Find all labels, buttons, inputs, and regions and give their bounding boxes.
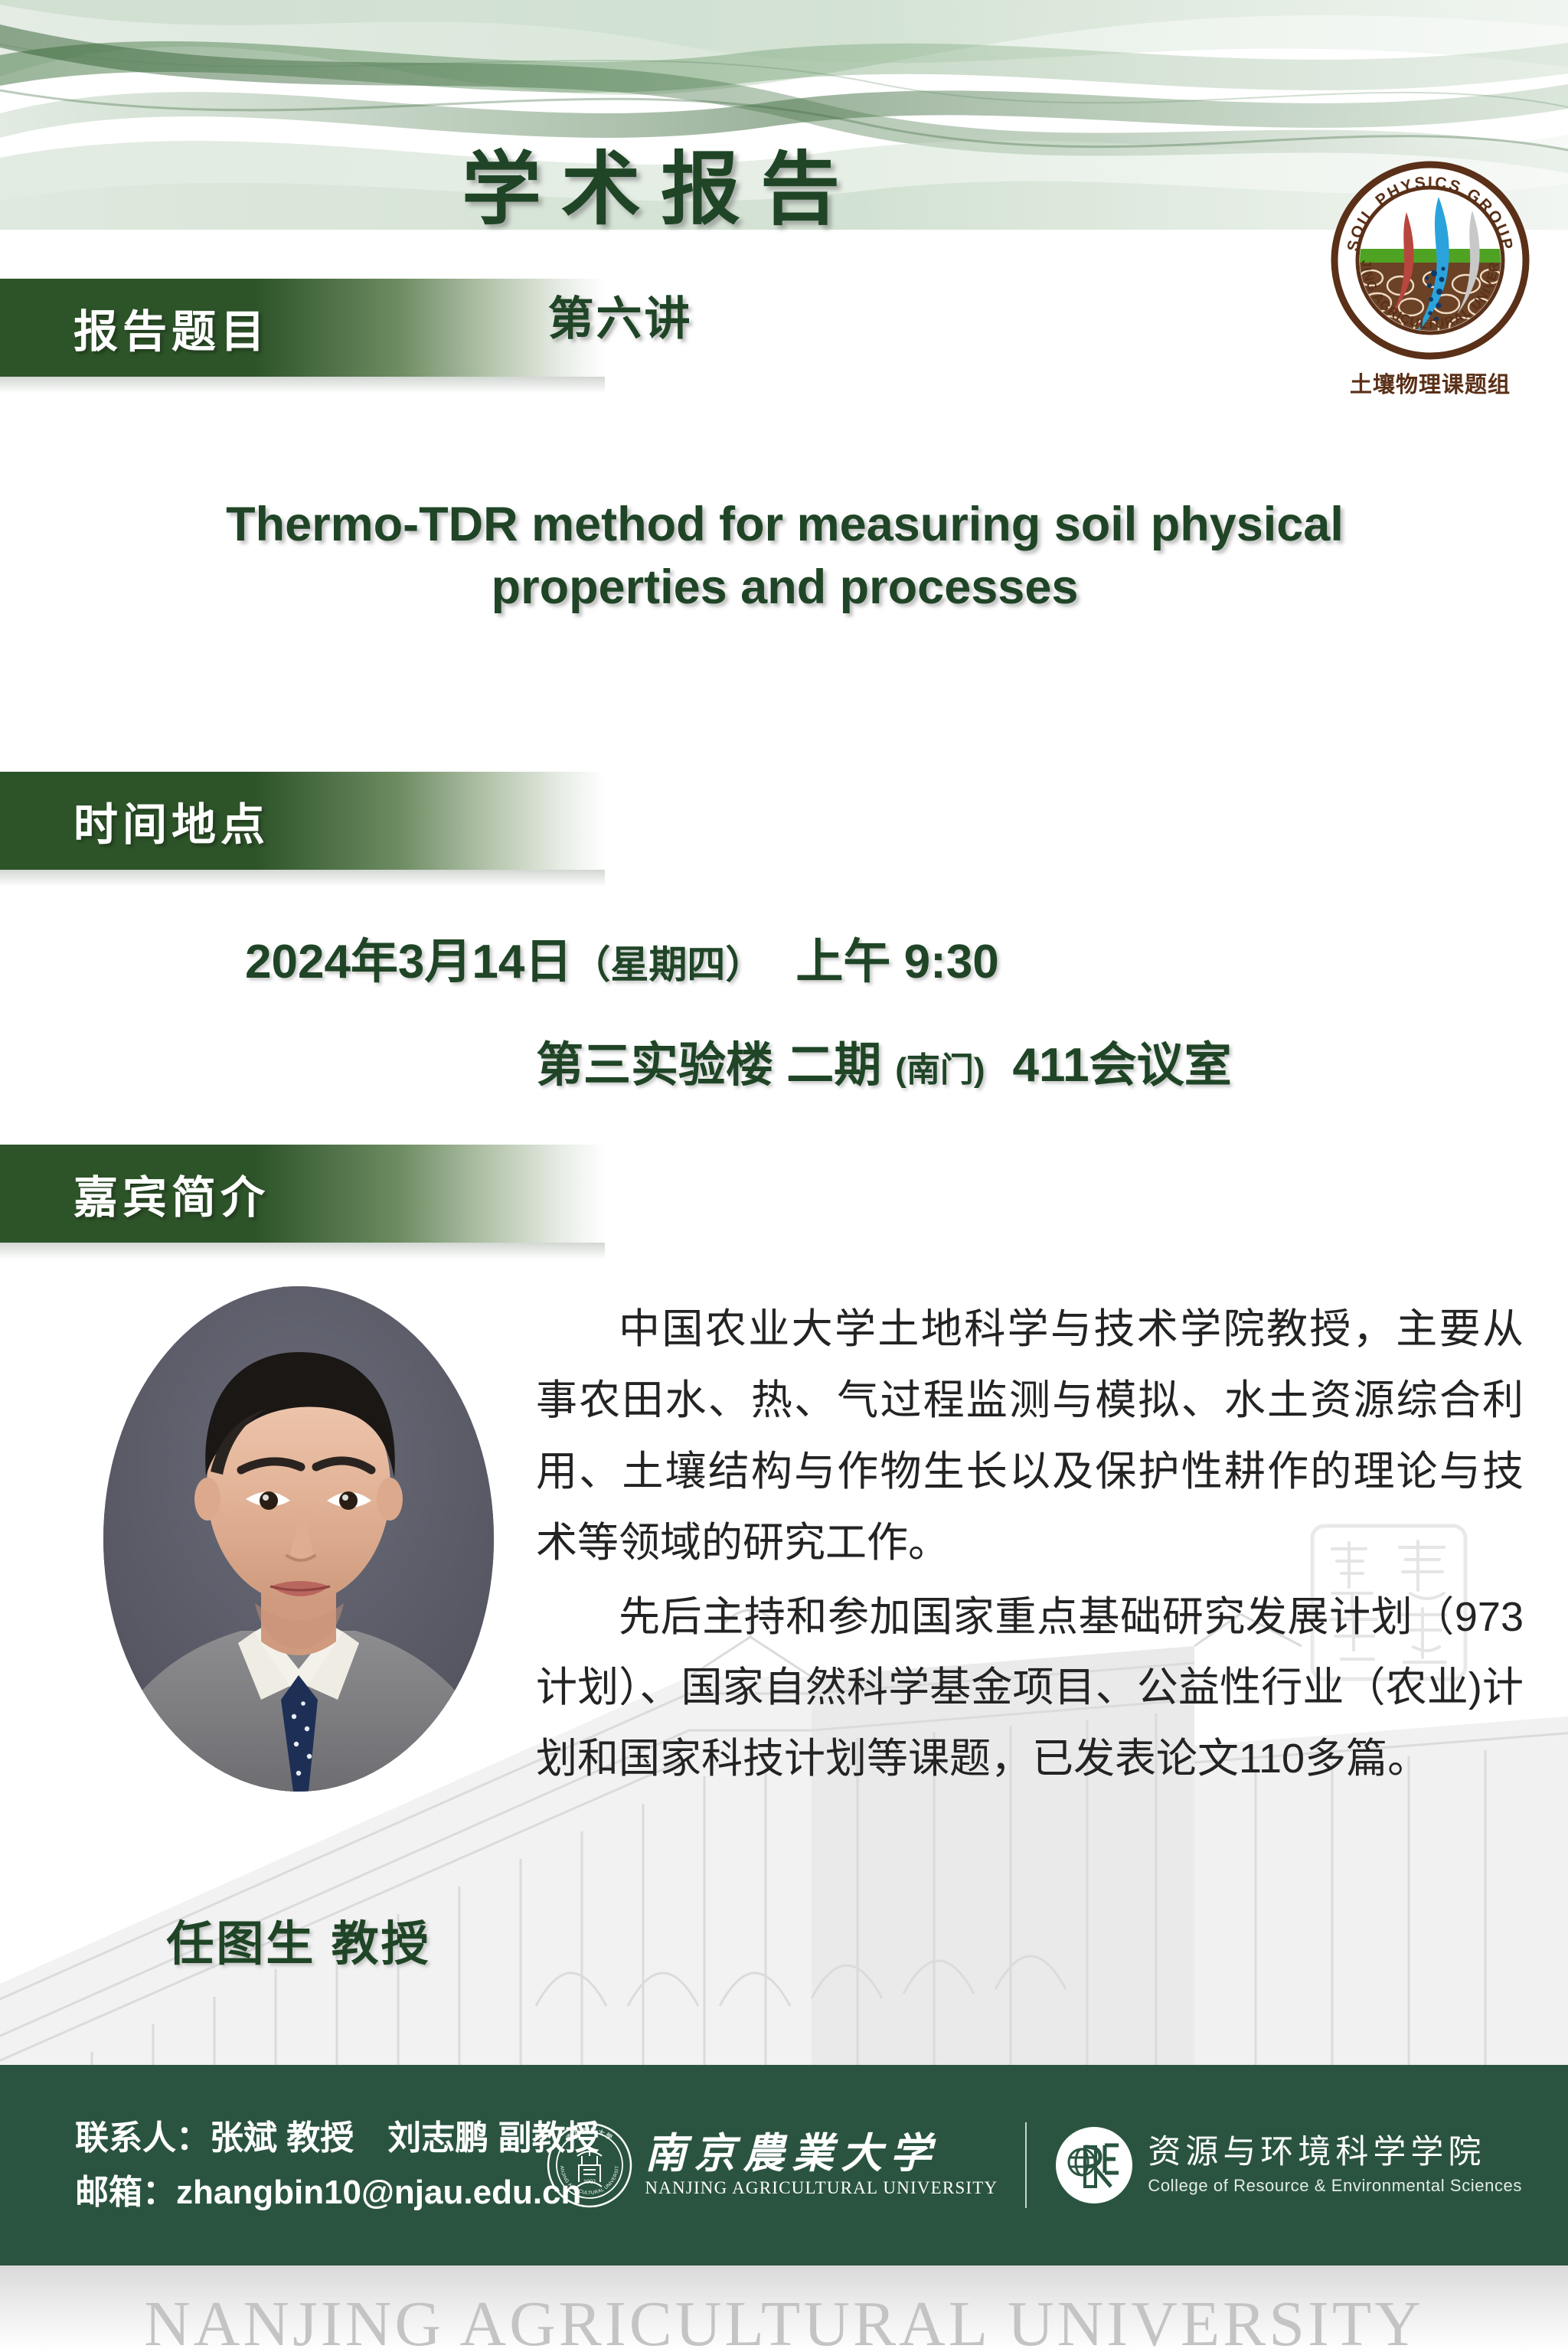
bio-paragraph-1: 中国农业大学土地科学与技术学院教授，主要从事农田水、热、气过程监测与模拟、水土资… (536, 1294, 1524, 1579)
topic-bar-shadow (0, 377, 605, 394)
lecture-number: 第六讲 (0, 282, 1240, 348)
page-title: 学术报告 (0, 145, 1302, 234)
time-bar-shadow (0, 870, 605, 887)
talk-title-line-1: Thermo-TDR method for measuring soil phy… (54, 494, 1516, 557)
njau-seal-icon: 南京農業大學 NANJING AGRICULTURAL UNIVERSITY 1… (547, 2122, 632, 2208)
footer-bar: 联系人：张斌 教授刘志鹏 副教授 邮箱：zhangbin10@njau.edu.… (0, 2065, 1568, 2265)
speaker-name: 任图生 教授 (77, 1905, 521, 1974)
njau-seal-year: 1902 (583, 2178, 596, 2185)
cres-name-cn: 资源与环境科学学院 (1148, 2135, 1522, 2171)
globe-badge-icon (1054, 2125, 1134, 2205)
schedule-date: 2024年3月14日 (245, 936, 572, 988)
contact-prefix-label: 联系人： (75, 2119, 210, 2157)
soil-physics-group-caption: 土壤物理课题组 (1323, 367, 1537, 399)
soil-physics-group-logo: SOIL PHYSICS GROUP NANJING AGRICULTURAL … (1323, 157, 1537, 399)
section-label-time: 时间地点 (73, 789, 269, 853)
contact-email[interactable]: zhangbin10@njau.edu.cn (176, 2174, 581, 2211)
schedule-gate: (南门) (895, 1051, 985, 1089)
njau-name-en: NANJING AGRICULTURAL UNIVERSITY (645, 2178, 998, 2198)
bottom-watermark-text: NANJING AGRICULTURAL UNIVERSITY (0, 2292, 1568, 2352)
section-bar-time: 时间地点 (0, 772, 605, 870)
section-bar-guest: 嘉宾简介 (0, 1145, 605, 1243)
talk-title: Thermo-TDR method for measuring soil phy… (54, 494, 1516, 619)
njau-university-logo: 南京農業大學 NANJING AGRICULTURAL UNIVERSITY 1… (547, 2122, 998, 2208)
speaker-bio: 中国农业大学土地科学与技术学院教授，主要从事农田水、热、气过程监测与模拟、水土资… (536, 1294, 1524, 1795)
njau-wordmark: 南京農業大学 NANJING AGRICULTURAL UNIVERSITY (645, 2132, 998, 2199)
bio-paragraph-2: 先后主持和参加国家重点基础研究发展计划（973计划）、国家自然科学基金项目、公益… (536, 1582, 1524, 1795)
footer-email-line: 邮箱：zhangbin10@njau.edu.cn (75, 2165, 599, 2220)
njau-name-cn: 南京農業大学 (645, 2132, 998, 2176)
speaker-portrait-photo (103, 1286, 494, 1792)
cres-name-en: College of Resource & Environmental Scie… (1148, 2176, 1522, 2196)
schedule-location-row: 第三实验楼 二期(南门)411会议室 (536, 1026, 1232, 1095)
contact-person-1: 张斌 教授 (210, 2119, 354, 2157)
cres-wordmark: 资源与环境科学学院 College of Resource & Environm… (1148, 2135, 1522, 2195)
poster-canvas: 学术报告 第六讲 (0, 0, 1568, 2352)
footer-contact-block: 联系人：张斌 教授刘志鹏 副教授 邮箱：zhangbin10@njau.edu.… (75, 2111, 599, 2220)
footer-divider (1025, 2122, 1027, 2208)
schedule-weekday: （星期四） (572, 943, 763, 986)
schedule-room: 411会议室 (1013, 1039, 1232, 1092)
footer-contact-line: 联系人：张斌 教授刘志鹏 副教授 (75, 2111, 599, 2165)
footer-logo-group: 南京農業大學 NANJING AGRICULTURAL UNIVERSITY 1… (547, 2104, 1522, 2226)
guest-bar-shadow (0, 1243, 605, 1259)
schedule-time: 上午 9:30 (795, 936, 998, 988)
cres-college-logo: 资源与环境科学学院 College of Resource & Environm… (1054, 2125, 1522, 2205)
talk-title-line-2: properties and processes (54, 557, 1516, 619)
email-prefix-label: 邮箱： (75, 2174, 176, 2211)
section-label-guest: 嘉宾简介 (73, 1161, 269, 1226)
schedule-building: 第三实验楼 二期 (536, 1039, 881, 1092)
schedule-datetime-row: 2024年3月14日（星期四）上午 9:30 (245, 923, 999, 991)
